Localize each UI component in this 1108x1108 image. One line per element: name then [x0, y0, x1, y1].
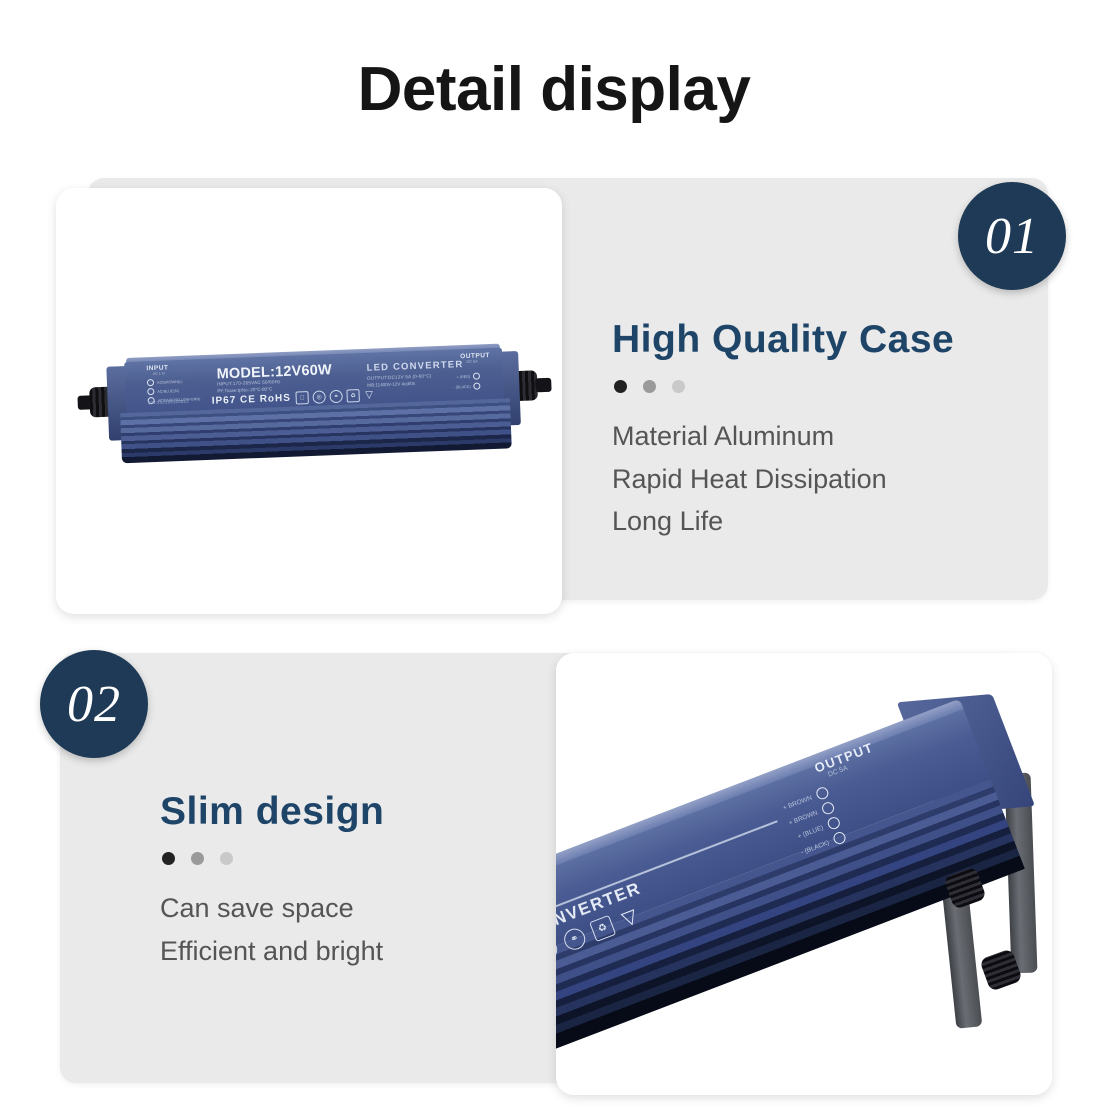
- terminal-dot-icon: [826, 816, 842, 832]
- dot-indicator-active: [614, 380, 627, 393]
- terminal-label: - (BLACK): [800, 839, 830, 856]
- feature-section-1: INPUT AC L N AC/BROWN(L) AC/BLUE(N): [0, 170, 1108, 620]
- section-badge-1: 01: [958, 182, 1066, 290]
- dot-indicator-light: [672, 380, 685, 393]
- terminal-dot-icon: [831, 830, 847, 846]
- terminal-label: + (RED): [456, 374, 470, 379]
- label-spec-input: INPUT:170-265VAC 50/60Hz: [217, 379, 281, 386]
- output-terminal-list: + (RED) - (BLACK): [453, 372, 481, 393]
- terminal-dot-icon: [147, 379, 154, 386]
- recycle-mark-icon: ♻: [346, 389, 359, 402]
- terminal-dot-icon: [473, 372, 480, 379]
- terminal-row: + (RED): [453, 372, 481, 380]
- terminal-label: - (BLACK): [453, 384, 470, 389]
- driver-body: INPUT AC L N AC/BROWN(L) AC/BLUE(N): [88, 335, 533, 478]
- feature-text-1: High Quality Case Material Aluminum Rapi…: [612, 318, 1032, 543]
- dot-indicator-medium: [643, 380, 656, 393]
- terminal-label: AC/BROWN(L): [157, 379, 183, 384]
- tuv-mark-icon: ▽: [363, 390, 374, 401]
- led-driver-angled-with-cables-photo: ED CONVERTER ode □ ◎ ⚭ ♻ ▽ OUTPUT DC 5A …: [556, 653, 1052, 1095]
- vde-mark-icon: ⚭: [329, 390, 342, 403]
- product-photo-card-1[interactable]: INPUT AC L N AC/BROWN(L) AC/BLUE(N): [56, 188, 562, 614]
- dot-indicator-light: [220, 852, 233, 865]
- label-spec-eff: MB:11400V-12V 4cd/0s: [367, 381, 415, 388]
- terminal-dot-icon: [814, 786, 830, 802]
- step-dots-2: [162, 852, 560, 865]
- terminal-row: AC/BROWN(L): [147, 377, 200, 386]
- label-spec-output: OUTPUT:DC12V 5A (0-60°C): [367, 373, 432, 380]
- page-title: Detail display: [0, 54, 1108, 125]
- cert-icon-group: □ ◎ ⚭ ♻ ▽: [295, 389, 374, 405]
- terminal-dot-icon: [820, 801, 836, 817]
- label-converter: LED CONVERTER: [366, 359, 463, 374]
- feature-line: Can save space: [160, 887, 560, 930]
- dot-indicator-active: [162, 852, 175, 865]
- step-dots-1: [614, 380, 1032, 393]
- feature-line: Material Aluminum: [612, 415, 1032, 458]
- label-output-sub: DC 5A: [466, 360, 477, 364]
- feature-section-2: ED CONVERTER ode □ ◎ ⚭ ♻ ▽ OUTPUT DC 5A …: [0, 648, 1108, 1098]
- cable-tip-right: [535, 378, 552, 393]
- terminal-row: AC/BLUE(N): [147, 386, 200, 395]
- feature-text-2: Slim design Can save space Efficient and…: [160, 790, 560, 972]
- product-photo-card-2[interactable]: ED CONVERTER ode □ ◎ ⚭ ♻ ▽ OUTPUT DC 5A …: [556, 653, 1052, 1095]
- label-spec-temp: PF:Tcase:tpNo:-20°C-80°C: [217, 386, 272, 393]
- square-mark-icon: □: [295, 391, 308, 404]
- tuv-mark-icon: ▽: [617, 906, 642, 931]
- terminal-label: AC/BLUE(N): [157, 389, 179, 394]
- feature-heading-2: Slim design: [160, 790, 560, 834]
- dot-indicator-medium: [191, 852, 204, 865]
- label-cert: IP67 CE RoHS: [212, 393, 292, 407]
- feature-line: Long Life: [612, 500, 1032, 543]
- feature-line: Efficient and bright: [160, 930, 560, 973]
- ce-mark-icon: ◎: [312, 390, 325, 403]
- label-input-sub: AC L N: [153, 372, 165, 376]
- section-badge-2: 02: [40, 650, 148, 758]
- feature-line: Rapid Heat Dissipation: [612, 458, 1032, 501]
- terminal-row: - (BLACK): [453, 382, 481, 390]
- terminal-dot-icon: [474, 382, 481, 389]
- feature-heading-1: High Quality Case: [612, 318, 1032, 362]
- led-driver-horizontal-photo: INPUT AC L N AC/BROWN(L) AC/BLUE(N): [56, 188, 562, 614]
- terminal-dot-icon: [147, 388, 154, 395]
